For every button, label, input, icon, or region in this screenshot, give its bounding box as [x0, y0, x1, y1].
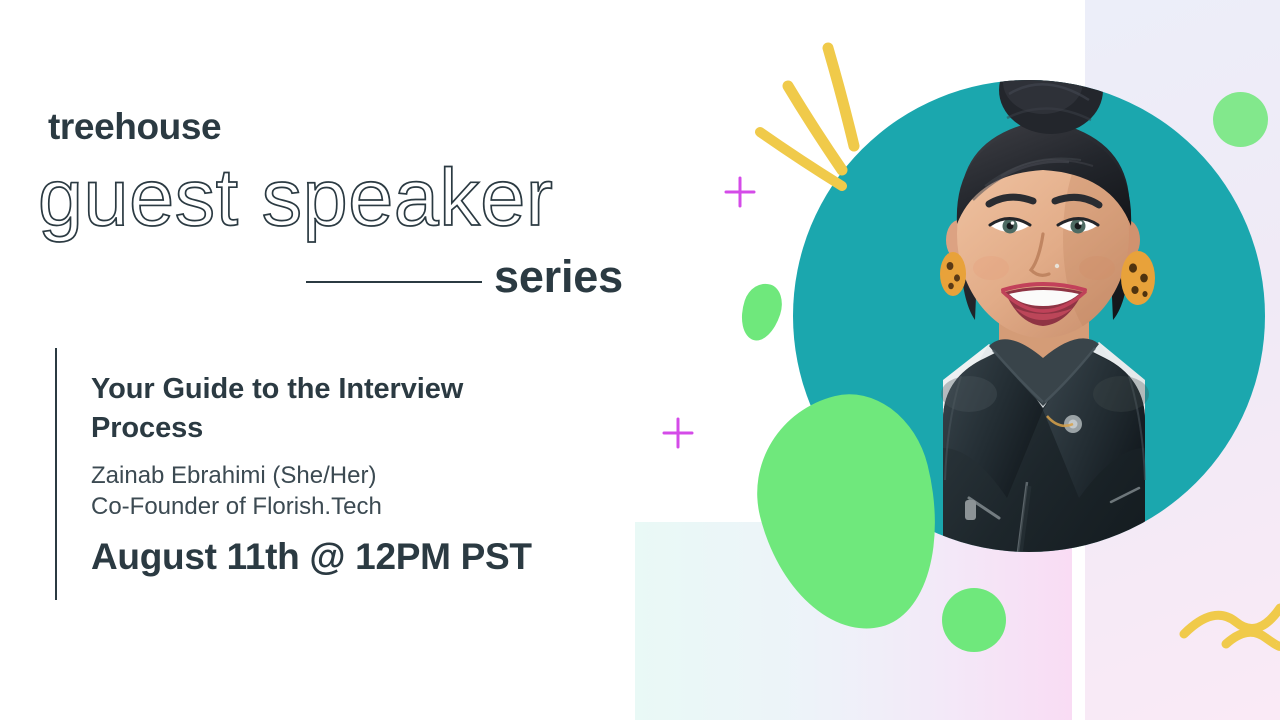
series-divider-rule: [306, 281, 482, 283]
brand-wordmark: treehouse: [48, 108, 221, 145]
promo-slide: treehouse guest speaker series Your Guid…: [0, 0, 1280, 720]
headline-guest-speaker: guest speaker: [38, 158, 553, 239]
session-title: Your Guide to the Interview Process: [91, 370, 561, 448]
speaker-name: Zainab Ebrahimi (She/Her): [91, 461, 376, 490]
speaker-role: Co-Founder of Florish.Tech: [91, 492, 382, 521]
green-dot-bottom: [942, 588, 1006, 652]
earring-left: [940, 252, 966, 296]
series-label: series: [494, 254, 623, 299]
green-bean-shape: [734, 279, 788, 346]
earring-right: [1121, 251, 1155, 305]
magenta-plus-upper: [726, 178, 754, 206]
yellow-sparkle-strokes: [760, 48, 854, 186]
green-dot-topright: [1213, 92, 1268, 147]
event-date-time: August 11th @ 12PM PST: [91, 535, 532, 579]
session-accent-rule: [55, 348, 57, 600]
magenta-plus-lower: [664, 419, 692, 447]
